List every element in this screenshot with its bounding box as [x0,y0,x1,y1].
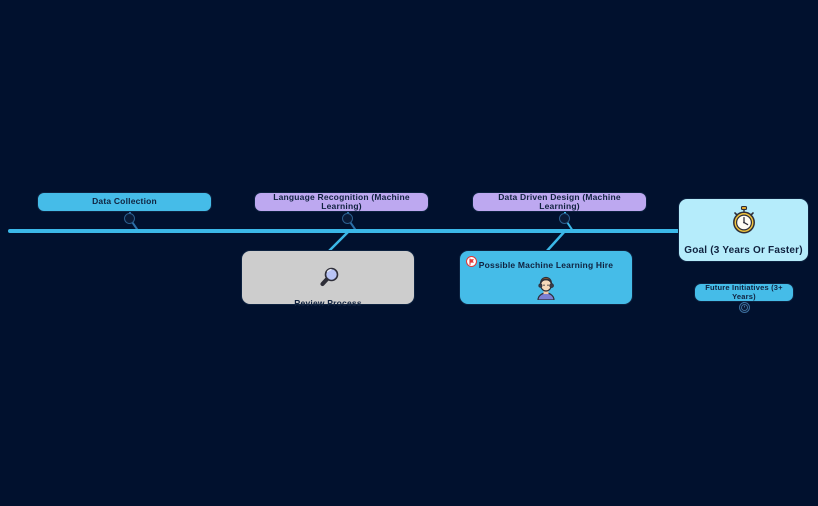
detail-box-label: Possible Machine Learning Hire [479,260,613,270]
milestone-language-recognition[interactable]: Language Recognition (Machine Learning) [254,192,429,212]
timeline-node-marker[interactable] [559,213,570,224]
timeline-axis [8,229,680,233]
milestone-data-collection[interactable]: Data Collection [37,192,212,212]
timeline-node-marker[interactable] [342,213,353,224]
magnifying-glass-icon [315,264,341,295]
detail-box-machine-learning-hire[interactable]: Possible Machine Learning Hire [459,250,633,305]
timeline-node-marker[interactable] [124,213,135,224]
milestone-future-initiatives[interactable]: Future Initiatives (3+ Years) [694,283,794,302]
milestone-label: Future Initiatives (3+ Years) [701,284,787,301]
detail-box-label: Review Process [294,298,362,308]
milestone-label: Language Recognition (Machine Learning) [261,193,422,212]
milestone-data-driven-design[interactable]: Data Driven Design (Machine Learning) [472,192,647,212]
detail-box-review-process[interactable]: Review Process [241,250,415,305]
goal-box[interactable]: Goal (3 Years Or Faster) [678,198,809,262]
person-with-headset-icon [533,274,559,305]
stopwatch-icon [729,205,759,240]
goal-label: Goal (3 Years Or Faster) [684,245,803,256]
roadmap-canvas: Data Collection Language Recognition (Ma… [0,0,818,506]
timeline-node-marker[interactable] [739,302,750,313]
milestone-label: Data Driven Design (Machine Learning) [479,193,640,212]
red-flag-badge-icon [466,254,477,265]
milestone-label: Data Collection [92,197,157,206]
